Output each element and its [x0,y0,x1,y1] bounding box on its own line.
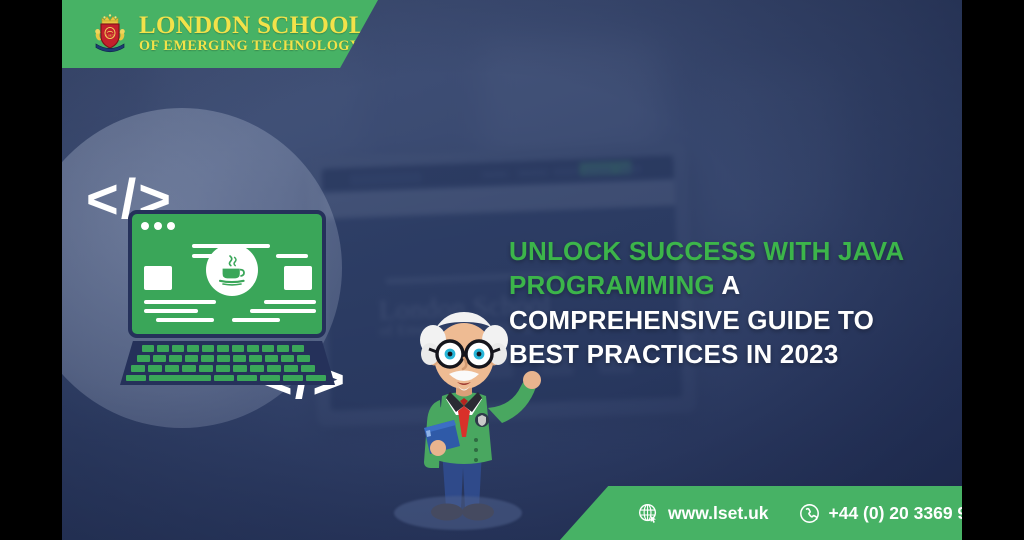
brand-header: LSET LONDON SCHOOL OF EMERGING TECHNOLOG… [62,0,378,68]
website-text: www.lset.uk [668,503,769,524]
brand-logo-text: LONDON SCHOOL OF EMERGING TECHNOLOGY [139,13,378,56]
brand-logo-line2: OF EMERGING TECHNOLOGY [139,38,361,54]
laptop-keyboard [120,341,335,385]
phone-text: +44 (0) 20 3369 9909 [829,503,963,524]
screenshot-stage: London School of Emerging Technology [0,0,1024,540]
brand-logo-line1: LONDON SCHOOL [139,12,366,39]
java-laptop-illustration: </> </> [80,168,370,418]
headline-green-text: UNLOCK SUCCESS WITH JAVA PROGRAMMING [509,236,903,300]
java-coffee-cup-icon [206,244,258,296]
heraldic-crest-icon: LSET [90,12,130,56]
laptop-screen [128,210,326,338]
headline: UNLOCK SUCCESS WITH JAVA PROGRAMMING A C… [509,234,941,371]
phone-icon [799,503,820,524]
promo-banner: London School of Emerging Technology [62,0,962,540]
contact-footer: www.lset.uk +44 (0) 20 3369 9909 [560,486,962,540]
website-contact[interactable]: www.lset.uk [638,503,769,524]
professor-character [380,300,550,540]
globe-icon [638,503,659,524]
character-shadow [394,496,522,530]
svg-text:LSET: LSET [106,34,115,38]
window-dots-icon [141,222,175,230]
laptop-icon [120,210,335,385]
phone-contact[interactable]: +44 (0) 20 3369 9909 [799,503,963,524]
